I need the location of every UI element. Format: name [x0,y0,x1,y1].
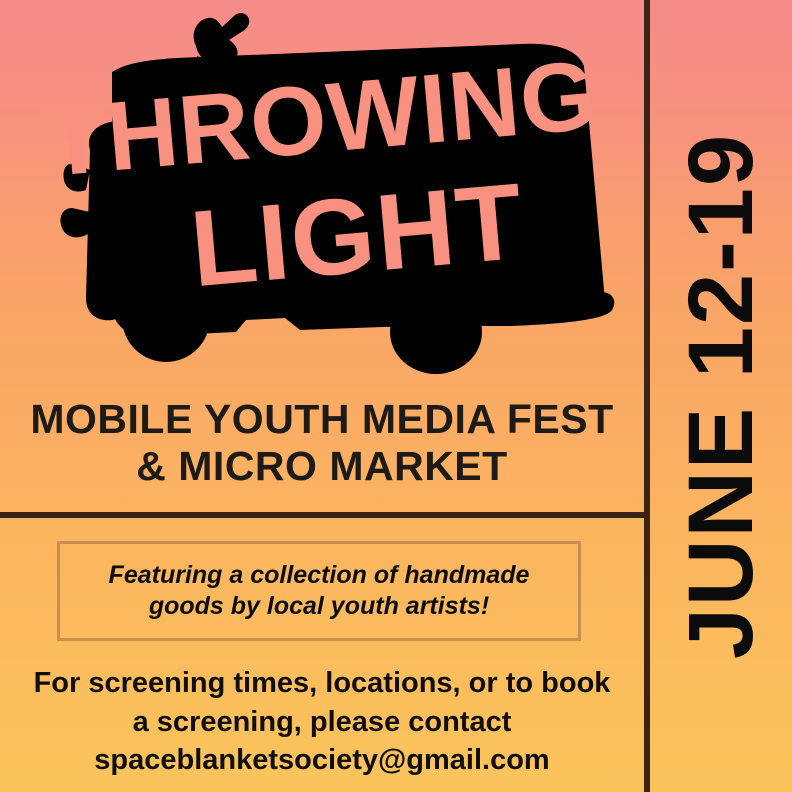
feature-callout-box: Featuring a collection of handmade goods… [57,541,581,641]
event-date-text: JUNE 12-19 [675,133,767,659]
contact-block: For screening times, locations, or to bo… [0,664,644,780]
horizontal-divider [0,512,644,518]
contact-line-1: For screening times, locations, or to bo… [0,664,644,703]
poster-canvas: THROWING LIGHT MOBILE YOUTH MEDIA FEST &… [0,0,792,792]
subtitle-line-2: & MICRO MARKET [0,443,644,490]
contact-line-2: a screening, please contact [0,703,644,742]
date-rail: JUNE 12-19 [650,0,792,792]
logo-artwork: THROWING LIGHT [0,0,644,386]
feature-line-2: goods by local youth artists! [109,591,530,622]
subtitle-block: MOBILE YOUTH MEDIA FEST & MICRO MARKET [0,396,644,489]
subtitle-line-1: MOBILE YOUTH MEDIA FEST [30,396,613,442]
feature-text: Featuring a collection of handmade goods… [109,560,530,623]
feature-line-1: Featuring a collection of handmade [109,561,530,589]
contact-email: spaceblanketsociety@gmail.com [0,741,644,780]
